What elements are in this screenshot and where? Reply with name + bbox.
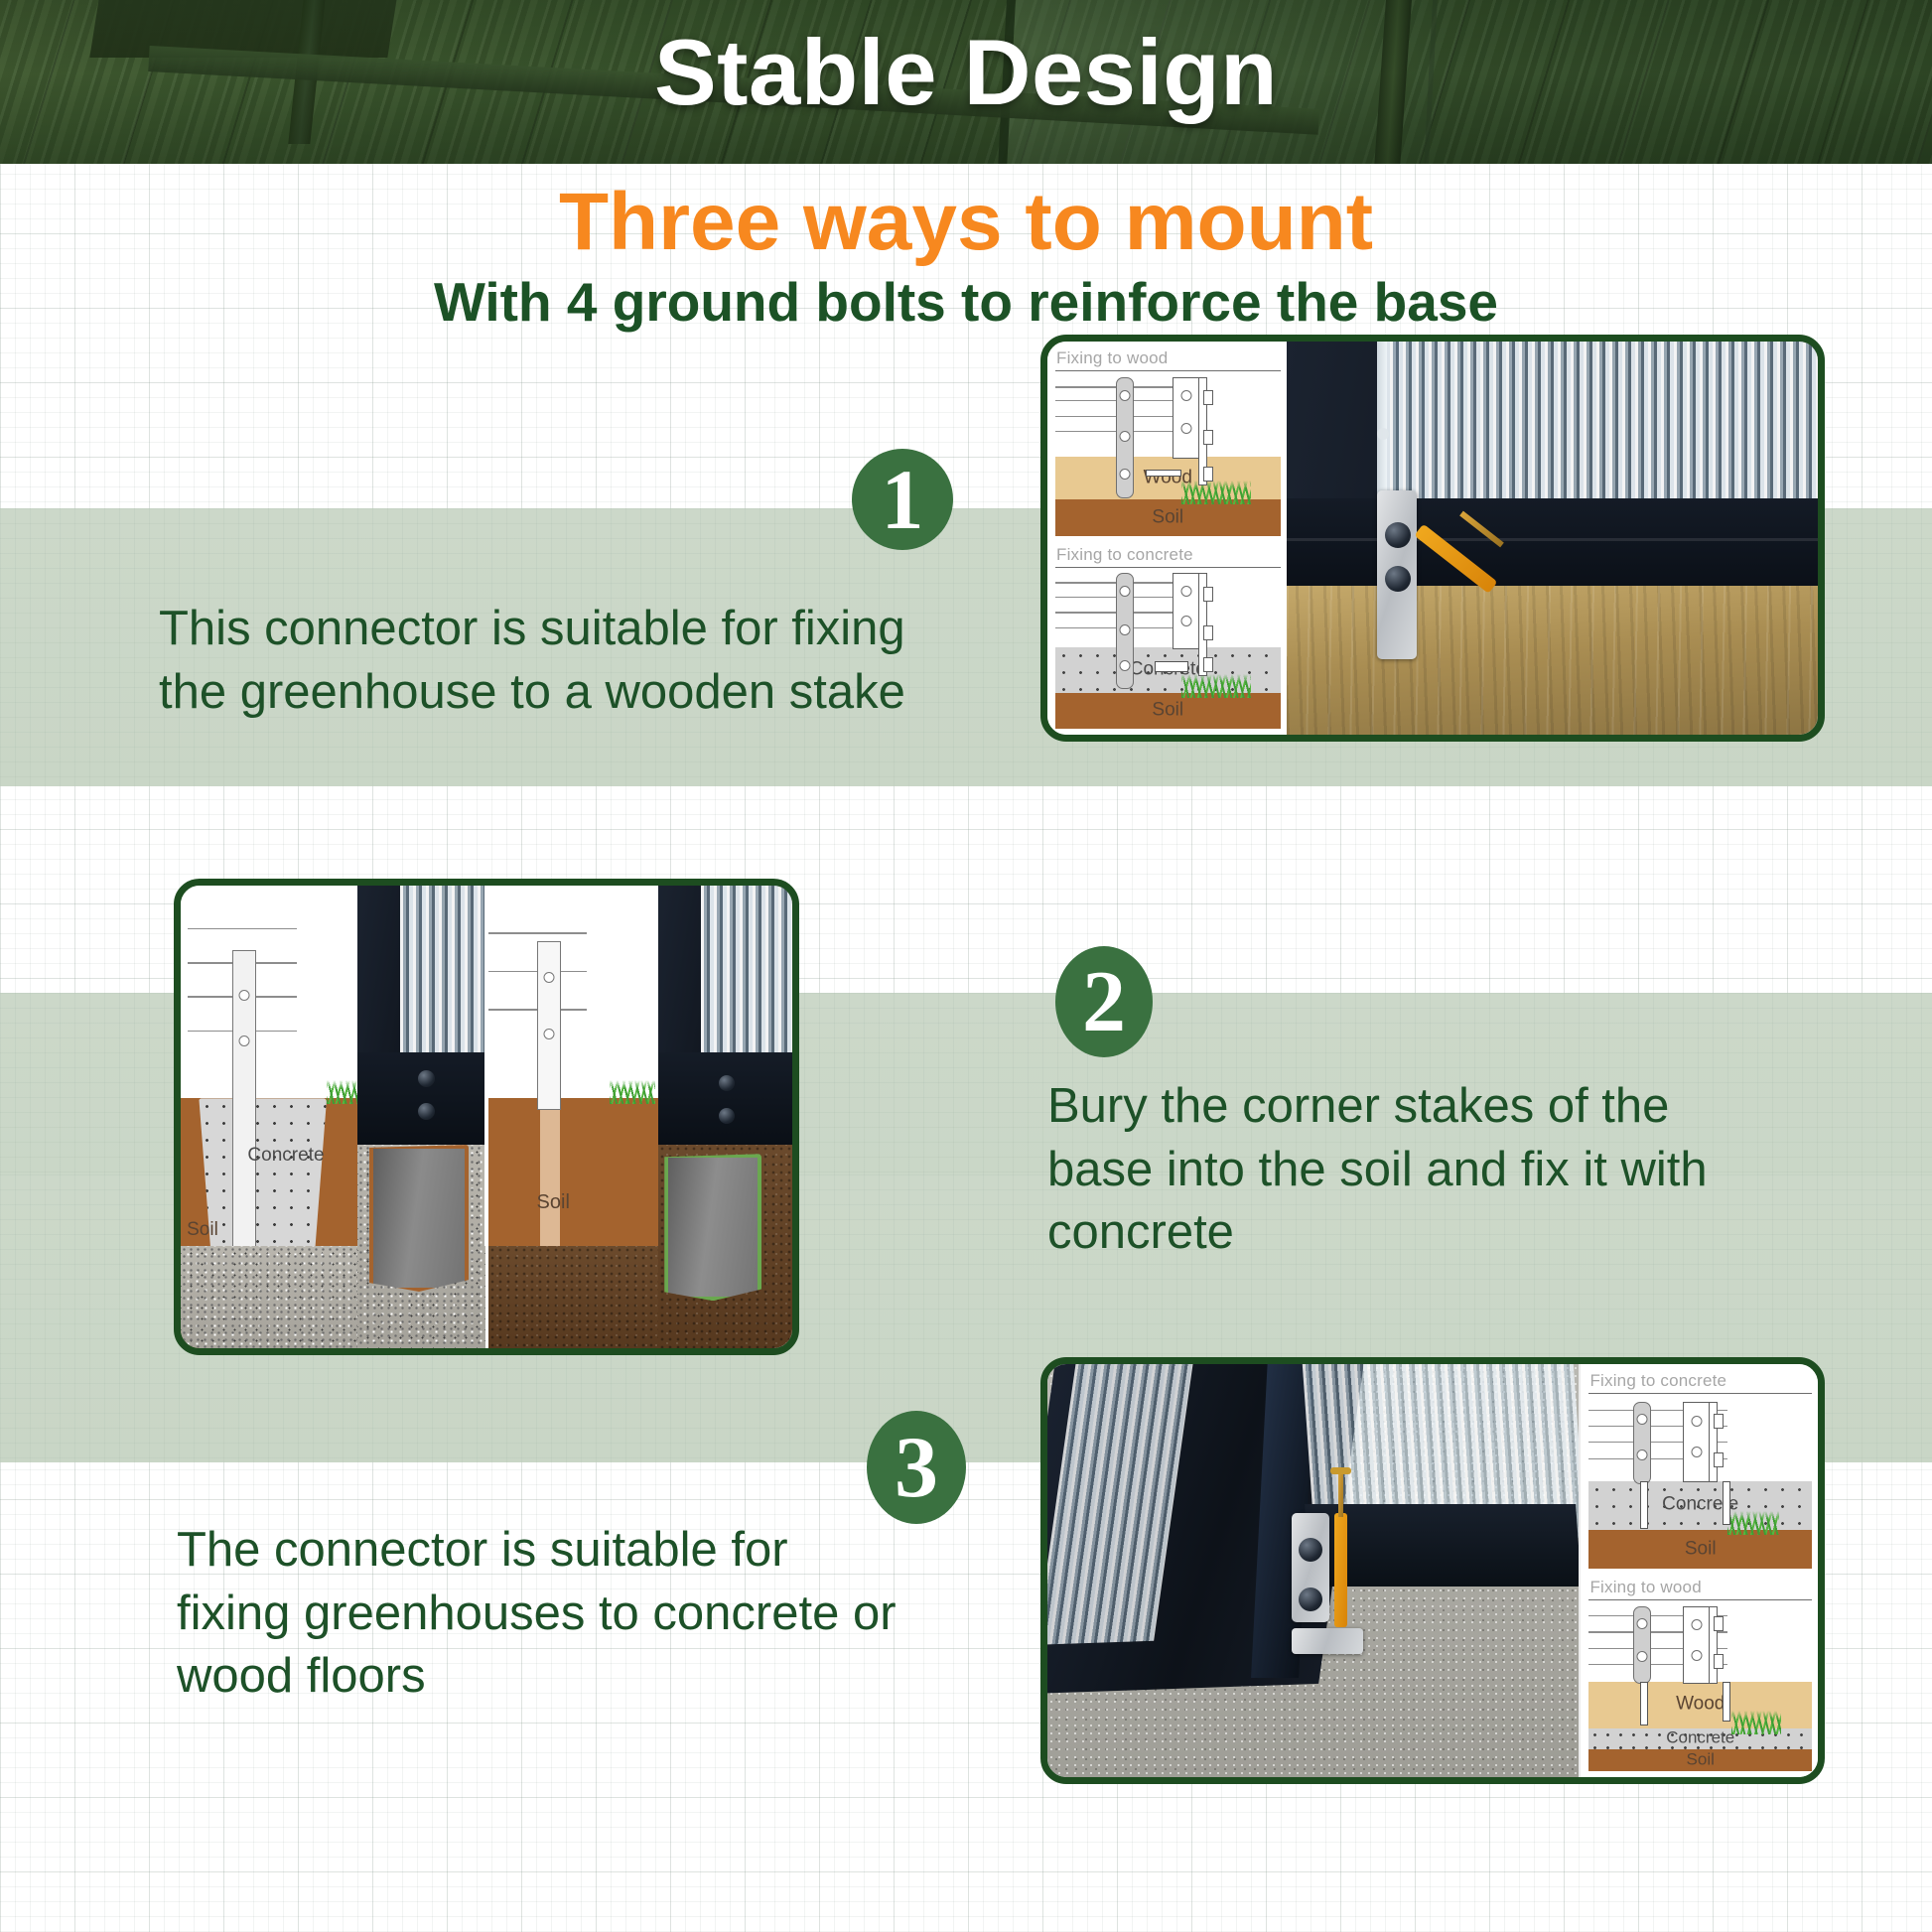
polycarbonate-panel [1377, 342, 1818, 498]
card3-diagram-concrete: Fixing to concrete Concrete Soil [1581, 1368, 1818, 1575]
diagram-air [488, 886, 659, 1098]
card3-diagram-wood: Fixing to wood Wood Concrete [1581, 1575, 1818, 1777]
dirt-ground [488, 1246, 659, 1348]
bolt-head [1385, 566, 1411, 592]
base-rail [357, 1052, 485, 1145]
plastic-anchor [1334, 1513, 1347, 1627]
step-3-description: The connector is suitable for fixing gre… [177, 1519, 911, 1709]
card1-diagram-wood: Fixing to wood Wood Soil [1047, 345, 1287, 542]
step-1-number: 1 [882, 450, 924, 549]
layer-air [1055, 370, 1281, 457]
bracket-strap [1116, 377, 1134, 498]
card1-diagram-concrete: Fixing to concrete Concrete Soil [1047, 542, 1287, 735]
step-1-number-badge: 1 [852, 449, 953, 550]
polycarbonate-panel [701, 886, 792, 1070]
card1-photo [1287, 342, 1818, 735]
card1-diagram-wood-title: Fixing to wood [1056, 348, 1168, 368]
card3-diagram-concrete-title: Fixing to concrete [1589, 1371, 1726, 1391]
soil-label: Soil [187, 1219, 218, 1241]
layer-soil: Soil [1588, 1530, 1812, 1569]
l-bracket-foot [1292, 1628, 1363, 1654]
step-3-number-badge: 3 [867, 1411, 966, 1524]
bracket-body [1683, 1402, 1711, 1483]
anchor-screw [1338, 1471, 1343, 1517]
step-2-number-badge: 2 [1055, 946, 1153, 1057]
bracket-strap [1116, 573, 1134, 688]
screw-icon [1146, 470, 1181, 477]
concrete-label: Concrete [247, 1145, 324, 1167]
bracket-strap [1633, 1402, 1651, 1484]
bolt-head [1299, 1538, 1322, 1562]
card2-left-panel: Concrete Soil [181, 886, 485, 1348]
buried-stake [369, 1145, 469, 1292]
layer-soil: Soil [1055, 693, 1281, 729]
grass-tuft-icon [1181, 674, 1251, 698]
layer-soil-label: Soil [1055, 700, 1281, 722]
panel-clip [1377, 428, 1389, 440]
layer-air [1055, 567, 1281, 648]
stake-bracket [537, 941, 561, 1110]
anchor-screw-icon [1723, 1481, 1730, 1525]
base-rail [1287, 498, 1818, 585]
bracket-strap [1633, 1606, 1651, 1684]
layer-soil: Soil [1055, 499, 1281, 536]
layer-soil: Soil [1588, 1749, 1812, 1771]
diagram-air [181, 886, 357, 1098]
step-2-image-card[interactable]: Concrete Soil [174, 879, 799, 1355]
buried-stake [664, 1154, 761, 1301]
panel-edge [1377, 342, 1388, 498]
card1-diagram-concrete-title: Fixing to concrete [1056, 545, 1193, 565]
bracket-body [1683, 1606, 1711, 1684]
screw-icon [1155, 661, 1188, 672]
screw-head [1330, 1467, 1351, 1474]
wood-plank-ground [1287, 586, 1818, 735]
bolt-head [1299, 1587, 1322, 1611]
anchor-screw-icon [1640, 1481, 1648, 1529]
layer-soil-label: Soil [1055, 506, 1281, 528]
card2-right-panel: Soil [485, 886, 793, 1348]
page-title: Stable Design [0, 26, 1932, 119]
buried-stake-diagram [540, 1098, 560, 1265]
step-3-number: 3 [895, 1418, 938, 1518]
bracket-body [1173, 377, 1200, 459]
step-2-description: Bury the corner stakes of the base into … [1047, 1075, 1762, 1265]
step-1-description: This connector is suitable for fixing th… [159, 598, 933, 724]
bracket-body [1173, 573, 1200, 649]
step-2-number: 2 [1082, 952, 1126, 1052]
grass-tuft-icon [1727, 1511, 1779, 1535]
card1-diagram-column: Fixing to wood Wood Soil [1047, 342, 1287, 735]
layer-soil-label: Soil [1588, 1749, 1812, 1769]
headline-main: Three ways to mount [0, 180, 1932, 265]
stake-bracket [232, 950, 256, 1276]
grass-tuft-icon [1181, 481, 1251, 504]
base-rail [658, 1052, 792, 1145]
layer-soil-label: Soil [1588, 1538, 1812, 1560]
card3-photo [1047, 1364, 1579, 1777]
grass-tuft-icon [610, 1080, 655, 1104]
grass-tuft-icon [1731, 1711, 1781, 1734]
anchor-screw-icon [1640, 1682, 1648, 1725]
bolt-head [1385, 522, 1411, 548]
step-3-image-card[interactable]: Fixing to concrete Concrete Soil [1040, 1357, 1825, 1784]
polycarbonate-panel [400, 886, 485, 1080]
anchor-screw-icon [1723, 1682, 1730, 1722]
card3-diagram-column: Fixing to concrete Concrete Soil [1579, 1364, 1818, 1777]
step-1-image-card[interactable]: Fixing to wood Wood Soil [1040, 335, 1825, 742]
card3-diagram-wood-title: Fixing to wood [1589, 1578, 1701, 1597]
soil-label: Soil [537, 1191, 570, 1214]
headline-sub: With 4 ground bolts to reinforce the bas… [0, 274, 1932, 332]
rail-highlight [1287, 538, 1818, 541]
